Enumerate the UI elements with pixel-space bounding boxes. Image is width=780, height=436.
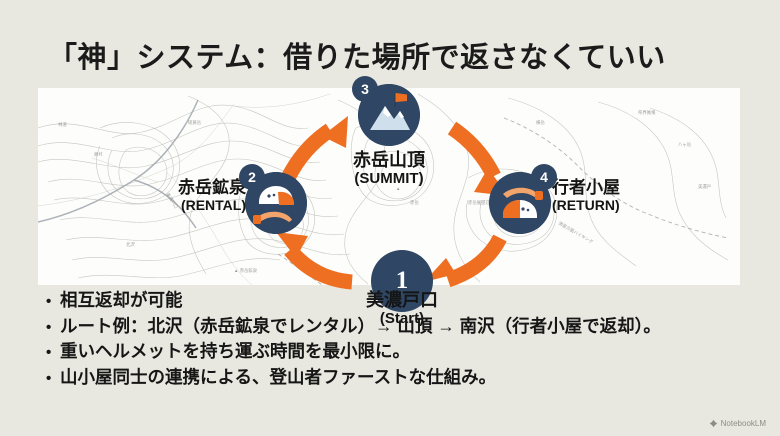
svg-text:県界尾根: 県界尾根 bbox=[638, 109, 656, 116]
node-label-return-en: (RETURN) bbox=[552, 197, 692, 213]
node-return[interactable]: 4 bbox=[489, 172, 551, 234]
svg-text:原村: 原村 bbox=[94, 150, 104, 157]
svg-text:美濃戸: 美濃戸 bbox=[698, 183, 712, 190]
notebooklm-logo-icon bbox=[709, 419, 718, 428]
bullet-marker: • bbox=[46, 320, 60, 335]
node-label-summit-jp: 赤岳山頂 bbox=[303, 150, 475, 170]
svg-text:赤岳: 赤岳 bbox=[410, 199, 419, 206]
bullet-list: • 相互返却が可能 • ルート例：北沢（赤岳鉱泉でレンタル）→ 山頂 → 南沢（… bbox=[46, 292, 758, 394]
list-item: • 重いヘルメットを持ち運ぶ時間を最小限に。 bbox=[46, 343, 758, 361]
node-label-rental-jp: 赤岳鉱泉 bbox=[150, 178, 246, 197]
list-item: • ルート例：北沢（赤岳鉱泉でレンタル）→ 山頂 → 南沢（行者小屋で返却）。 bbox=[46, 318, 758, 336]
node-label-summit-en: (SUMMIT) bbox=[303, 170, 475, 187]
page-title: 「神」システム：借りた場所で返さなくていい bbox=[48, 34, 666, 76]
watermark: NotebookLM bbox=[709, 419, 766, 428]
svg-text:横岳: 横岳 bbox=[536, 119, 545, 126]
node-badge-2: 2 bbox=[239, 164, 265, 190]
node-label-return: 行者小屋 (RETURN) bbox=[552, 178, 692, 213]
bullet-marker: • bbox=[46, 345, 60, 360]
slide-root: 「神」システム：借りた場所で返さなくていい bbox=[0, 0, 780, 436]
node-badge-4: 4 bbox=[531, 164, 557, 190]
bullet-marker: • bbox=[46, 371, 60, 386]
svg-text:八ヶ岳: 八ヶ岳 bbox=[678, 141, 692, 148]
bullet-text: 重いヘルメットを持ち運ぶ時間を最小限に。 bbox=[60, 343, 410, 361]
svg-text:赤岳展望荘: 赤岳展望荘 bbox=[468, 199, 491, 206]
bullet-marker: • bbox=[46, 294, 60, 309]
node-label-rental-en: (RENTAL) bbox=[150, 197, 246, 213]
svg-text:硫黄岳: 硫黄岳 bbox=[188, 119, 202, 126]
list-item: • 相互返却が可能 bbox=[46, 292, 758, 310]
bullet-text: 相互返却が可能 bbox=[60, 292, 183, 310]
list-item: • 山小屋同士の連携による、登山者ファーストな仕組み。 bbox=[46, 369, 758, 387]
node-label-rental: 赤岳鉱泉 (RENTAL) bbox=[150, 178, 246, 213]
node-badge-3: 3 bbox=[352, 76, 378, 102]
bullet-text: 山小屋同士の連携による、登山者ファーストな仕組み。 bbox=[60, 369, 496, 387]
svg-text:林道: 林道 bbox=[58, 121, 67, 128]
node-summit[interactable]: 3 bbox=[358, 84, 420, 146]
node-rental[interactable]: 2 bbox=[245, 172, 307, 234]
watermark-label: NotebookLM bbox=[721, 419, 766, 428]
bullet-text: ルート例：北沢（赤岳鉱泉でレンタル）→ 山頂 → 南沢（行者小屋で返却）。 bbox=[60, 318, 661, 336]
node-label-return-jp: 行者小屋 bbox=[552, 178, 692, 197]
svg-text:▲ 赤岳鉱泉: ▲ 赤岳鉱泉 bbox=[234, 267, 258, 274]
svg-text:北沢: 北沢 bbox=[126, 241, 135, 248]
node-label-summit: 赤岳山頂 (SUMMIT) bbox=[303, 150, 475, 187]
